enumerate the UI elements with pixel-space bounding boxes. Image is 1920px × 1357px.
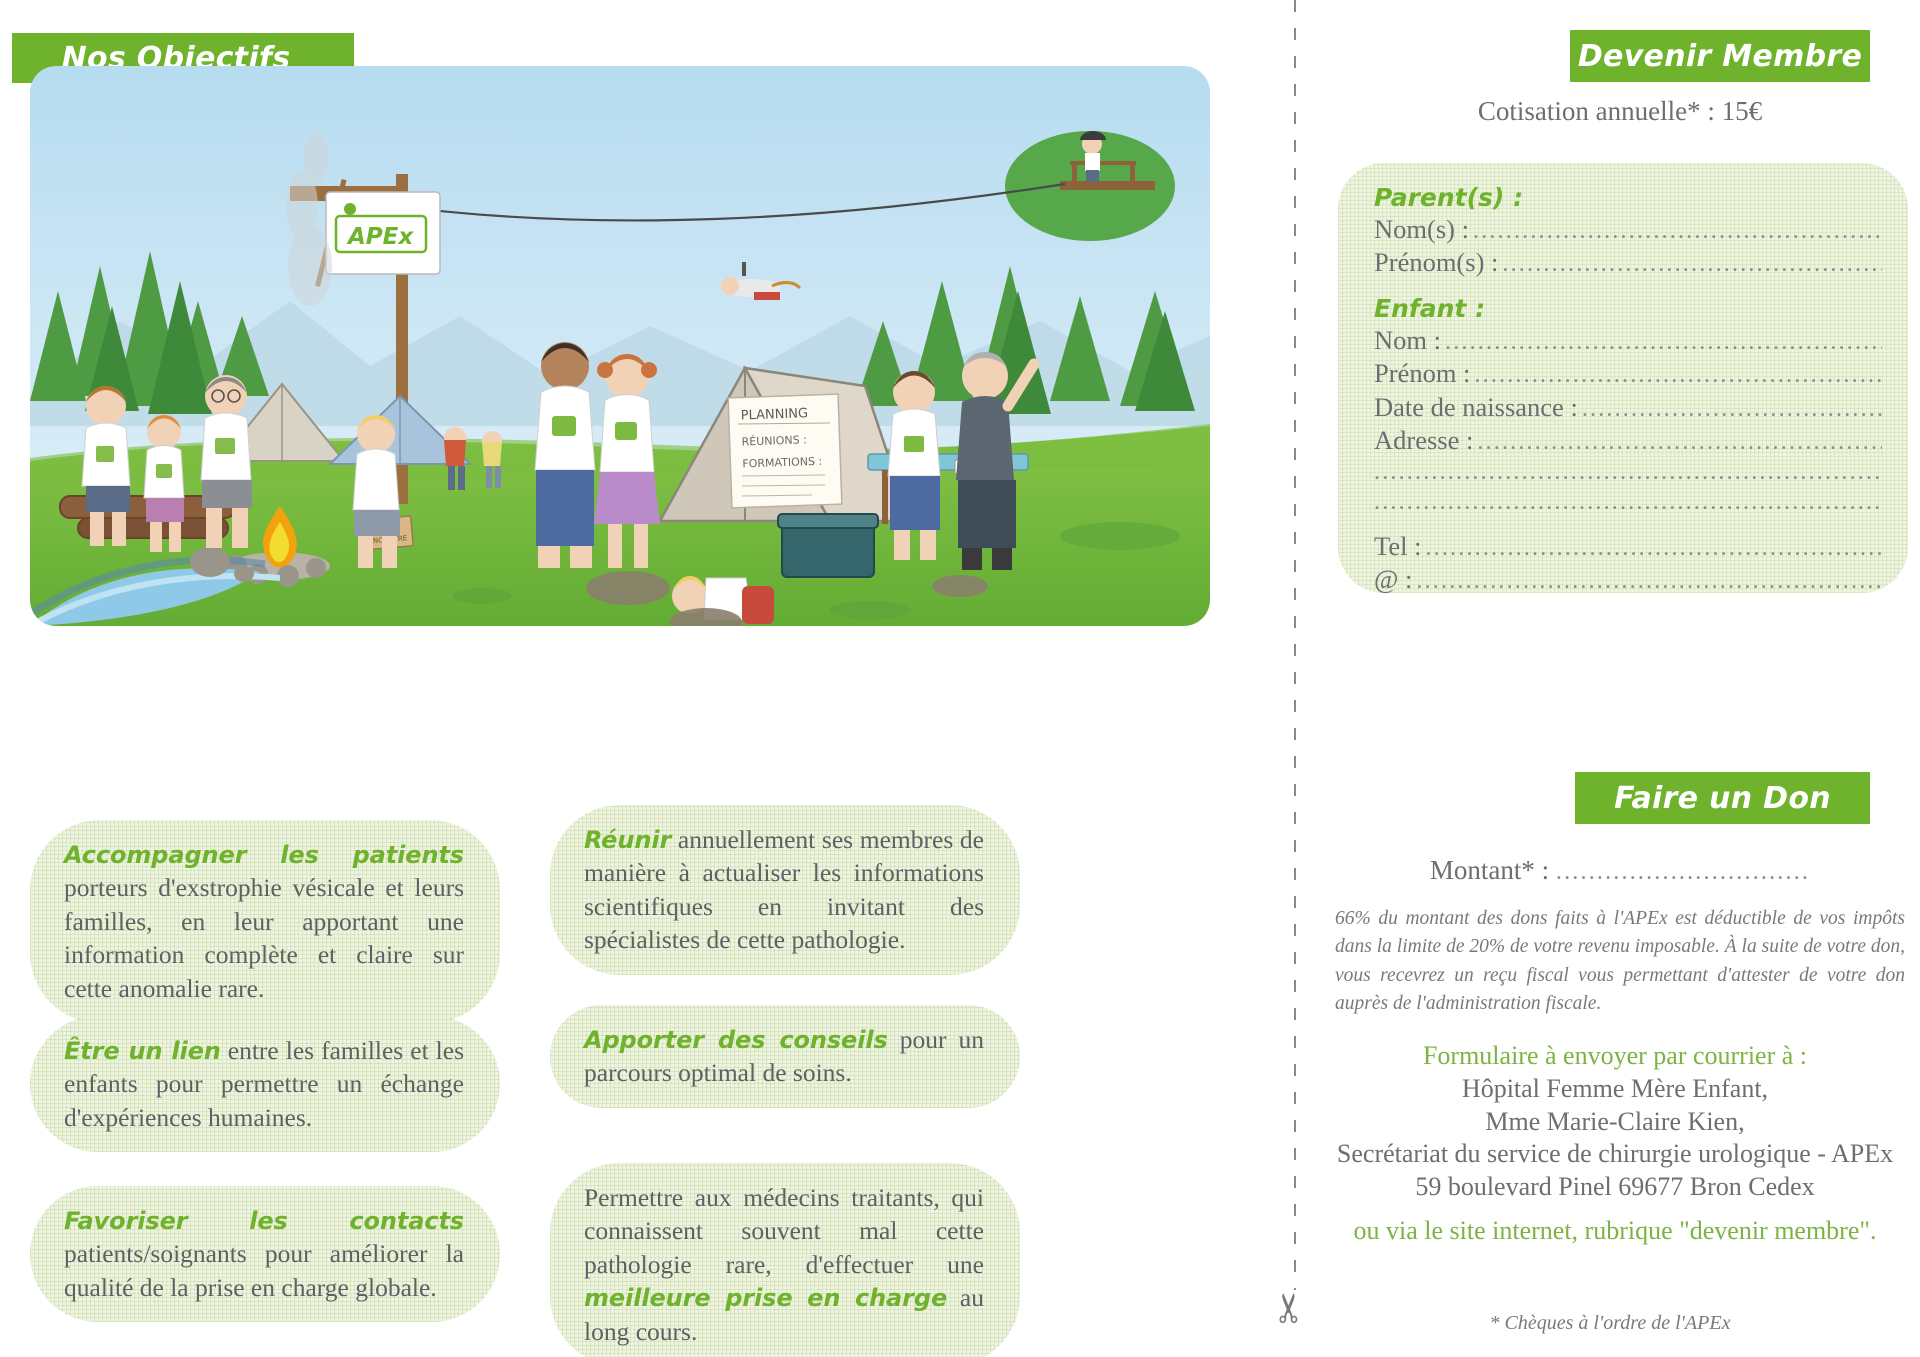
field-row-enfant-adresse[interactable]: Adresse : ..............................…: [1374, 424, 1882, 457]
field-dots-tel: ........................................…: [1425, 533, 1882, 563]
mailing-line-2: Mme Marie-Claire Kien,: [1310, 1106, 1920, 1139]
fold-dashed-line: [1294, 0, 1296, 1290]
form-spacer: [1364, 280, 1882, 292]
svg-text:FORMATIONS :: FORMATIONS :: [742, 455, 822, 471]
objective-bubble-accompagner: Accompagner les patients porteurs d'exst…: [30, 820, 500, 1023]
field-label-tel: Tel :: [1374, 530, 1421, 563]
field-label-email: @ :: [1374, 563, 1412, 596]
mailing-line-4: 59 boulevard Pinel 69677 Bron Cedex: [1310, 1171, 1920, 1204]
svg-text:RÉUNIONS :: RÉUNIONS :: [741, 433, 807, 448]
field-label-parent-prenom: Prénom(s) :: [1374, 246, 1498, 279]
mailing-line-1: Hôpital Femme Mère Enfant,: [1310, 1073, 1920, 1106]
field-label-enfant-adresse: Adresse :: [1374, 424, 1473, 457]
mailing-line-3: Secrétariat du service de chirurgie urol…: [1310, 1138, 1920, 1171]
fiscal-deduction-note: 66% du montant des dons faits à l'APEx e…: [1335, 905, 1905, 1018]
svg-text:PLANNING: PLANNING: [740, 406, 808, 423]
form-spacer-2: [1364, 518, 1882, 530]
field-dots-adresse-line-3[interactable]: ........................................…: [1374, 487, 1882, 517]
field-dots-enfant-adresse: ........................................…: [1477, 427, 1882, 457]
form-group-parent-title: Parent(s) :: [1374, 183, 1882, 212]
objective-lead: Réunir: [584, 826, 671, 854]
objective-text: Permettre aux médecins traitants, qui co…: [584, 1183, 984, 1279]
illustration-svg: APEx: [30, 66, 1210, 626]
field-row-parent-nom[interactable]: Nom(s) : ...............................…: [1374, 213, 1882, 246]
field-row-tel[interactable]: Tel : ..................................…: [1374, 530, 1882, 563]
field-dots-email: ........................................…: [1416, 566, 1882, 596]
section-header-faire-un-don-label: Faire un Don: [1614, 781, 1831, 816]
field-dots-enfant-prenom: ........................................…: [1474, 360, 1882, 390]
field-label-enfant-prenom: Prénom :: [1374, 357, 1470, 390]
section-header-faire-un-don: Faire un Don: [1575, 772, 1870, 824]
planning-poster: PLANNING RÉUNIONS : FORMATIONS :: [728, 394, 842, 508]
field-dots-parent-prenom: ........................................…: [1502, 249, 1882, 279]
objective-bubble-reunir: Réunir annuellement ses membres de maniè…: [550, 805, 1020, 975]
cheque-footnote: * Chèques à l'ordre de l'APEx: [1310, 1312, 1910, 1335]
brochure-page: Nos Objectifs: [0, 0, 1920, 1357]
apex-flag: APEx: [326, 192, 440, 274]
field-label-enfant-nom: Nom :: [1374, 324, 1441, 357]
objective-lead: Favoriser les contacts: [64, 1207, 464, 1235]
field-row-email[interactable]: @ : ....................................…: [1374, 563, 1882, 596]
objective-lead: Être un lien: [64, 1037, 221, 1065]
section-header-devenir-membre: Devenir Membre: [1570, 30, 1870, 82]
objective-bubble-medecins-traitants: Permettre aux médecins traitants, qui co…: [550, 1163, 1020, 1357]
objective-bubble-etre-un-lien: Être un lien entre les familles et les e…: [30, 1016, 500, 1152]
field-row-enfant-date-naissance[interactable]: Date de naissance : ....................…: [1374, 391, 1882, 424]
mailing-address-block: Formulaire à envoyer par courrier à : Hô…: [1310, 1040, 1920, 1204]
field-label-parent-nom: Nom(s) :: [1374, 213, 1469, 246]
field-dots-enfant-nom: ........................................…: [1445, 327, 1882, 357]
field-dots-parent-nom: ........................................…: [1473, 216, 1882, 246]
objective-lead: Apporter des conseils: [584, 1026, 888, 1054]
field-row-enfant-prenom[interactable]: Prénom : ...............................…: [1374, 357, 1882, 390]
field-label-enfant-date-naissance: Date de naissance :: [1374, 391, 1578, 424]
form-group-enfant-title: Enfant :: [1374, 294, 1882, 323]
field-dots-adresse-line-2[interactable]: ........................................…: [1374, 457, 1882, 487]
website-alternative-line[interactable]: ou via le site internet, rubrique "deven…: [1310, 1216, 1920, 1246]
field-row-parent-prenom[interactable]: Prénom(s) : ............................…: [1374, 246, 1882, 279]
objective-bubble-apporter-des-conseils: Apporter des conseils pour un parcours o…: [550, 1005, 1020, 1108]
objective-text: porteurs d'exstrophie vésicale et leurs …: [64, 873, 464, 1002]
field-dots-enfant-date-naissance: ........................................…: [1582, 394, 1882, 424]
objective-lead: Accompagner les patients: [64, 841, 464, 869]
field-row-enfant-nom[interactable]: Nom : ..................................…: [1374, 324, 1882, 357]
membership-form-card: Parent(s) : Nom(s) : ...................…: [1338, 163, 1908, 593]
camping-illustration: APEx: [30, 66, 1210, 626]
montant-label: Montant* :: [1430, 855, 1549, 885]
objective-bubble-favoriser-les-contacts: Favoriser les contacts patients/soignant…: [30, 1186, 500, 1322]
svg-text:APEx: APEx: [346, 224, 414, 250]
objective-lead-end: meilleure prise en charge: [584, 1284, 947, 1312]
section-header-devenir-membre-label: Devenir Membre: [1578, 39, 1862, 74]
cotisation-line: Cotisation annuelle* : 15€: [1340, 96, 1900, 127]
montant-field-row[interactable]: Montant* : .............................…: [1340, 855, 1900, 886]
mailing-intro: Formulaire à envoyer par courrier à :: [1310, 1040, 1920, 1073]
objective-text: patients/soignants pour améliorer la qua…: [64, 1239, 464, 1301]
montant-dots: ...............................: [1556, 859, 1810, 885]
